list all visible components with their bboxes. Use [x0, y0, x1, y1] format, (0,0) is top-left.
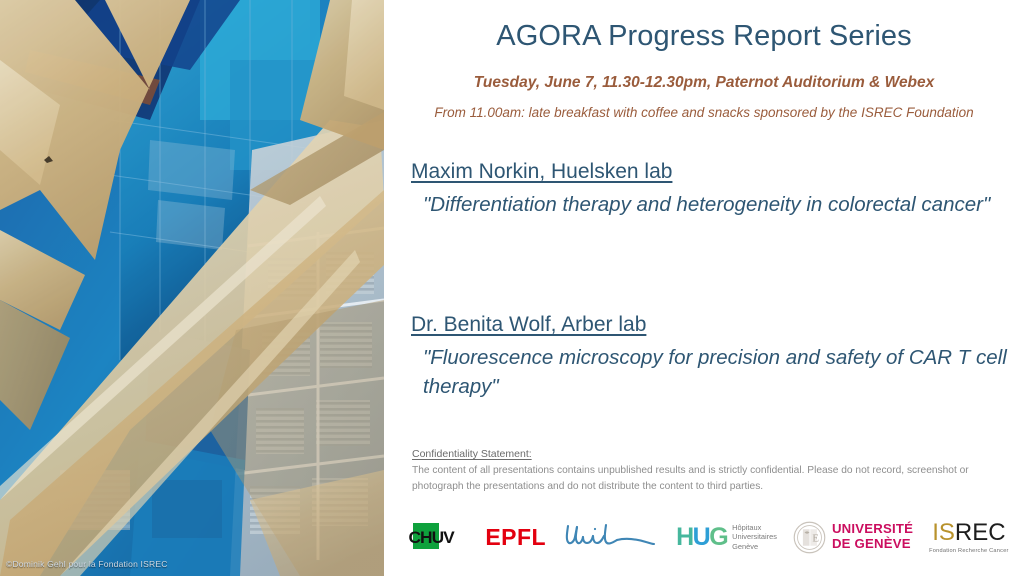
partner-logo-bar: CHUV EPFL HUG	[384, 506, 1024, 568]
chuv-logo: CHUV	[407, 522, 469, 552]
hug-letter-h: H	[676, 523, 693, 551]
hug-subtitle: Hôpitaux Universitaires Genève	[732, 523, 777, 551]
talk-title: "Differentiation therapy and heterogenei…	[411, 190, 1011, 219]
facade-photo-graphic	[0, 0, 384, 576]
isrec-part-rec: REC	[955, 519, 1006, 546]
speaker-name: Dr. Benita Wolf, Arber lab	[411, 313, 1011, 337]
isrec-logo: ISREC Fondation Recherche Cancer	[929, 521, 1009, 554]
unige-wordmark: UNIVERSITÉ DE GENÈVE	[832, 522, 913, 552]
talk-entry: Maxim Norkin, Huelsken lab "Differentiat…	[411, 160, 1011, 219]
talk-entry: Dr. Benita Wolf, Arber lab "Fluorescence…	[411, 313, 1011, 401]
hug-letter-u: U	[693, 523, 710, 551]
hug-logo: HUG Hôpitaux Universitaires Genève	[676, 523, 777, 552]
unige-logo: E UNIVERSITÉ DE GENÈVE	[793, 521, 913, 554]
unil-wordmark-graphic	[562, 520, 660, 554]
agora-building-facade-photo: ©Dominik Gehl pour la Fondation ISREC	[0, 0, 384, 576]
event-datetime-line: Tuesday, June 7, 11.30-12.30pm, Paternot…	[384, 74, 1024, 92]
svg-text:E: E	[812, 532, 819, 544]
hug-subtitle-line3: Genève	[732, 542, 777, 551]
confidentiality-body: The content of all presentations contain…	[412, 463, 1008, 495]
unige-line2: DE GENÈVE	[832, 537, 913, 552]
isrec-wordmark: ISREC	[932, 521, 1005, 545]
unil-logo	[562, 520, 660, 554]
content-panel: AGORA Progress Report Series Tuesday, Ju…	[384, 0, 1024, 576]
unige-seal-icon: E	[793, 521, 826, 554]
hug-letter-g: G	[709, 523, 727, 551]
hug-subtitle-line1: Hôpitaux	[732, 523, 777, 532]
event-breakfast-line: From 11.00am: late breakfast with coffee…	[384, 105, 1024, 120]
epfl-logo: EPFL	[485, 524, 546, 551]
hug-wordmark: HUG	[676, 523, 727, 552]
chuv-wordmark: CHUV	[409, 528, 454, 548]
photo-credit: ©Dominik Gehl pour la Fondation ISREC	[6, 559, 168, 569]
page-title: AGORA Progress Report Series	[384, 20, 1024, 53]
speaker-name: Maxim Norkin, Huelsken lab	[411, 160, 1011, 184]
confidentiality-statement: Confidentiality Statement: The content o…	[412, 448, 1008, 495]
slide-root: ©Dominik Gehl pour la Fondation ISREC AG…	[0, 0, 1024, 576]
confidentiality-heading: Confidentiality Statement:	[412, 448, 1008, 460]
hug-subtitle-line2: Universitaires	[732, 532, 777, 541]
isrec-tagline: Fondation Recherche Cancer	[929, 548, 1009, 554]
unige-line1: UNIVERSITÉ	[832, 522, 913, 537]
talk-title: "Fluorescence microscopy for precision a…	[411, 343, 1011, 401]
isrec-part-is: IS	[932, 519, 955, 546]
